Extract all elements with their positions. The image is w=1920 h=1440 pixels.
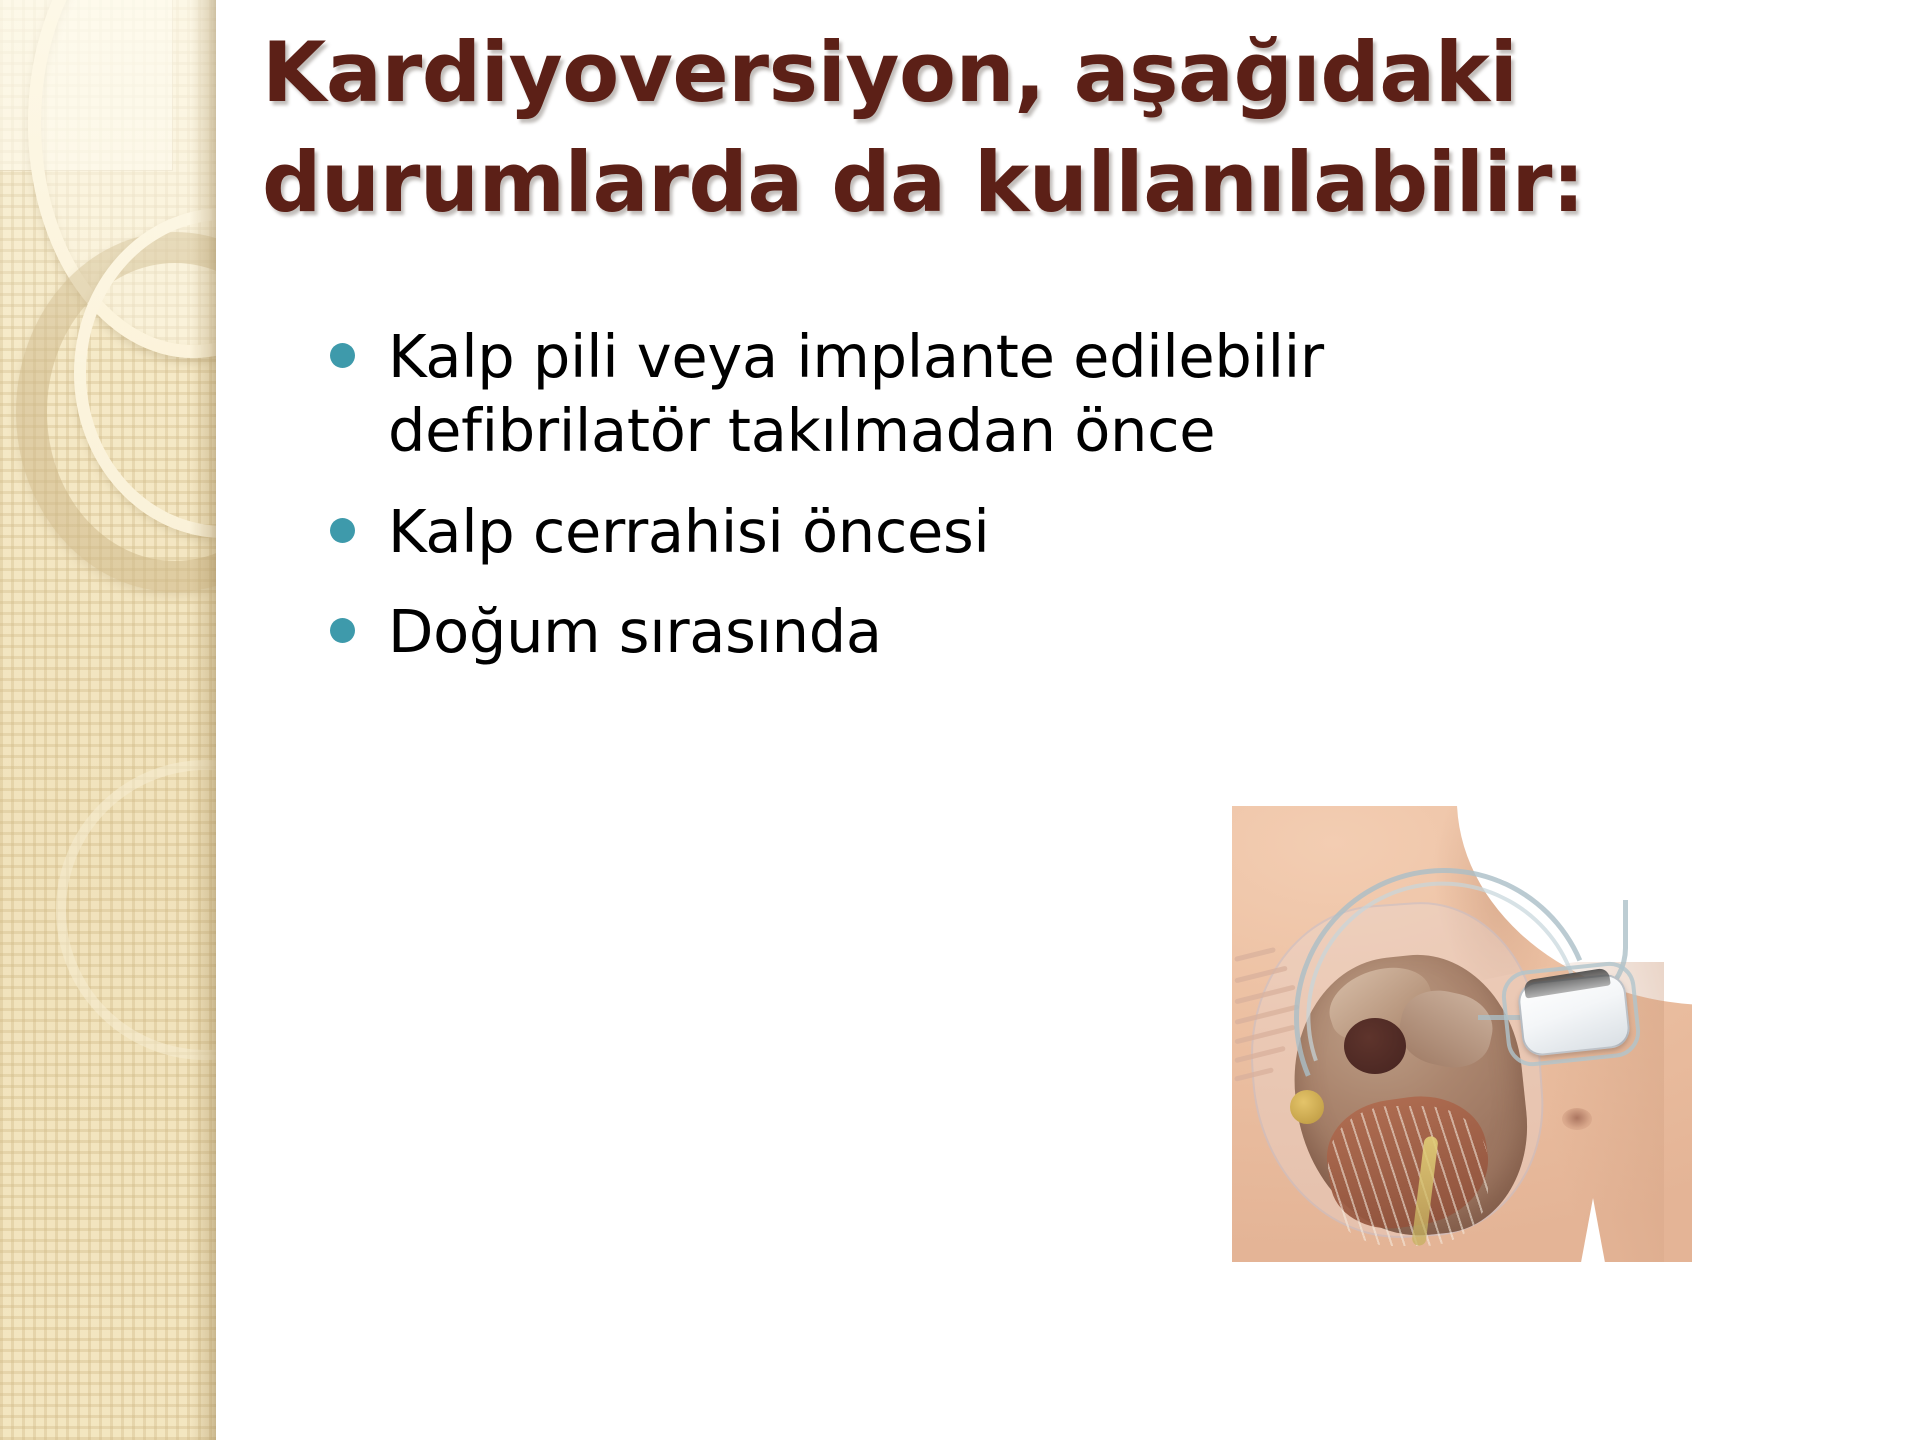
list-item-label: Kalp pili veya implante edilebilir defib… (388, 320, 1630, 469)
pacemaker-illustration (1232, 806, 1692, 1262)
bullet-dot-icon (330, 343, 355, 368)
list-item: Kalp pili veya implante edilebilir defib… (330, 320, 1630, 469)
list-item: Kalp cerrahisi öncesi (330, 495, 1630, 569)
presentation-slide: Kardiyoversiyon, aşağıdaki durumlarda da… (0, 0, 1920, 1440)
sidebar-shading-overlay (0, 0, 216, 1440)
list-item-label: Kalp cerrahisi öncesi (388, 495, 1630, 569)
bullet-dot-icon (330, 518, 355, 543)
slide-title: Kardiyoversiyon, aşağıdaki durumlarda da… (262, 18, 1752, 239)
sidebar-right-edge-shadow (190, 0, 216, 1440)
bullet-list: Kalp pili veya implante edilebilir defib… (330, 320, 1630, 695)
bullet-dot-icon (330, 618, 355, 643)
list-item: Doğum sırasında (330, 595, 1630, 669)
list-item-label: Doğum sırasında (388, 595, 1630, 669)
decorative-sidebar (0, 0, 216, 1440)
chest-detail (1562, 1108, 1592, 1130)
